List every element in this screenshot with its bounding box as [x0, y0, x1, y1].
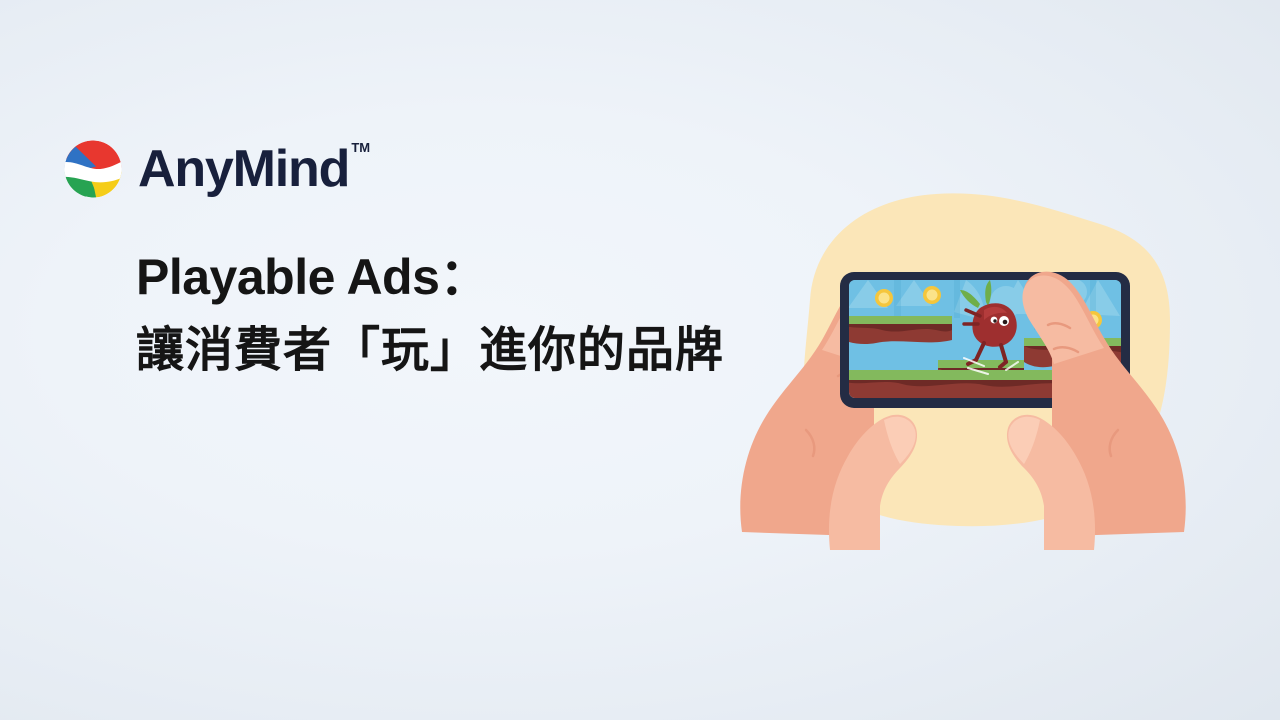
coin: [875, 289, 893, 307]
platform-top-left: [838, 316, 952, 344]
headline-line-2: 讓消費者「玩」進你的品牌: [136, 323, 724, 380]
hands-holding-phone-illustration: [718, 180, 1208, 550]
coin: [923, 286, 941, 304]
brand-lockup: AnyMind TM: [62, 138, 349, 200]
headline-line-1: Playable Ads：: [136, 248, 724, 307]
anymind-wordmark: AnyMind TM: [138, 143, 349, 195]
headline-block: Playable Ads： 讓消費者「玩」進你的品牌: [136, 248, 724, 380]
wordmark-text: AnyMind: [138, 140, 349, 198]
anymind-circle-logo-icon: [62, 138, 124, 200]
slide-canvas: AnyMind TM Playable Ads： 讓消費者「玩」進你的品牌: [0, 0, 1280, 720]
trademark-mark: TM: [351, 141, 370, 154]
